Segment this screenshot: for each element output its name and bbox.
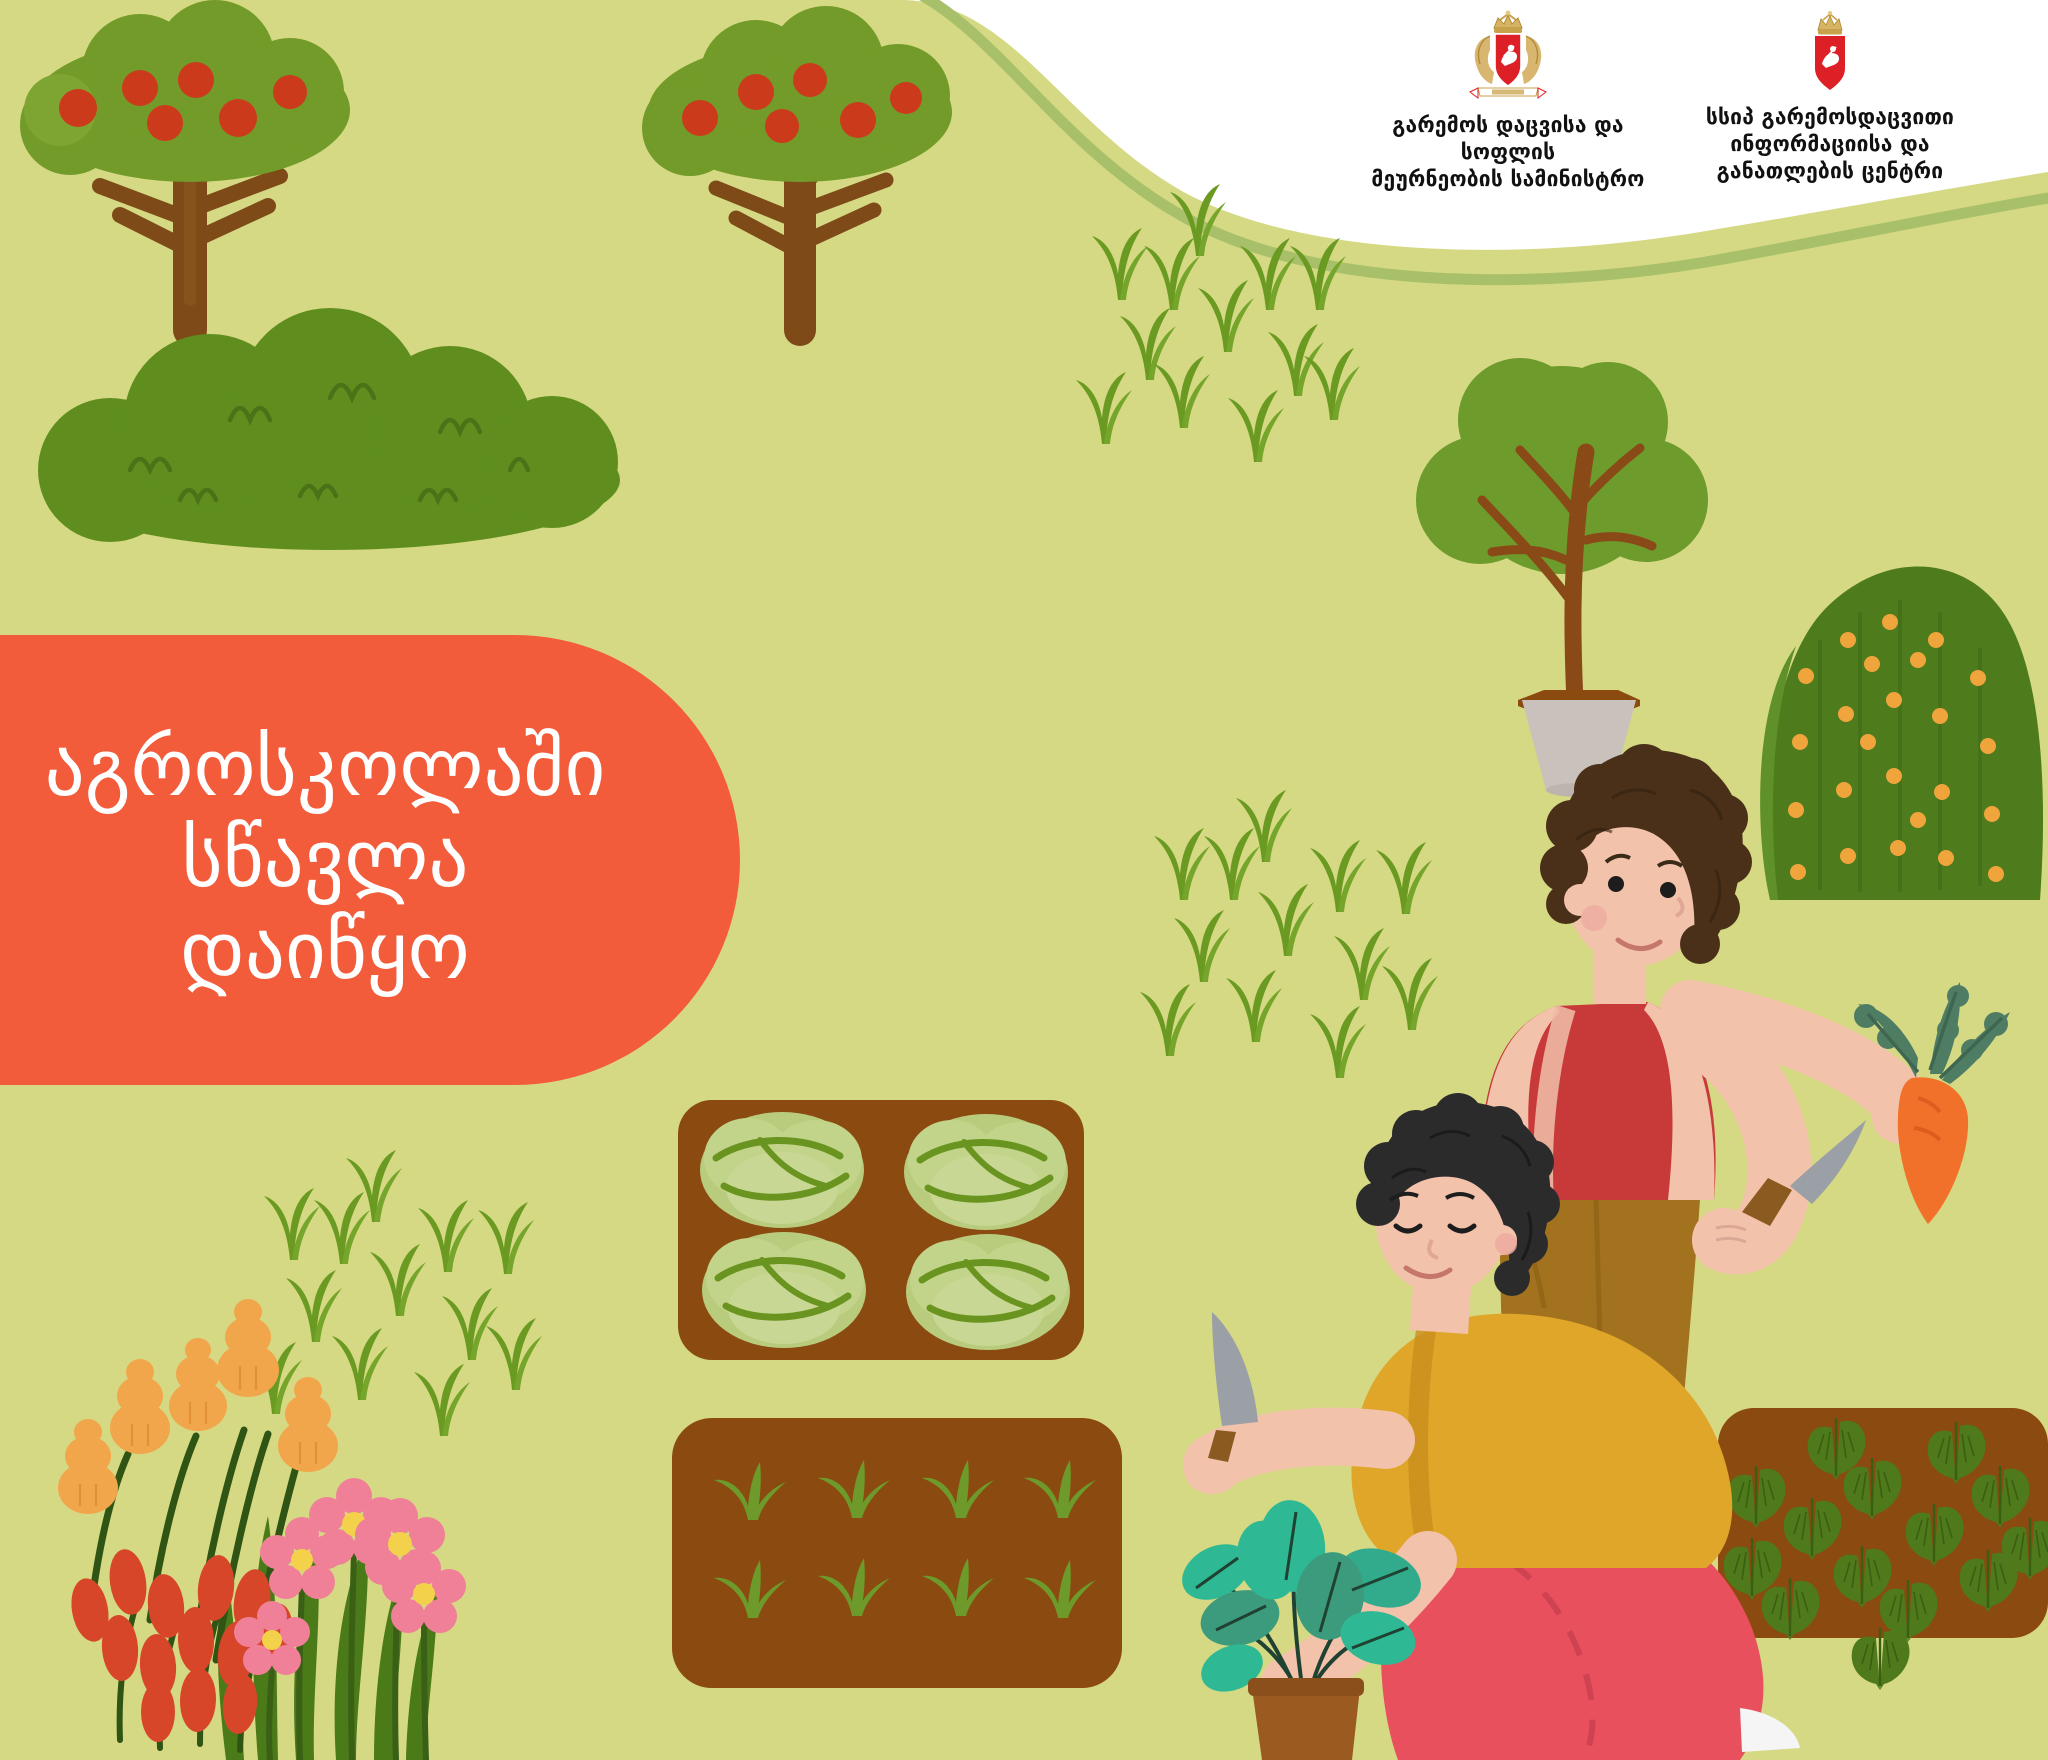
- title-text: აგროსკოლაში სწავლა დაიწყო: [15, 723, 666, 998]
- title-banner: აგროსკოლაში სწავლა დაიწყო: [0, 635, 740, 1085]
- apple: [219, 99, 257, 137]
- apple: [840, 102, 876, 138]
- apple: [147, 105, 183, 141]
- cheek: [1581, 905, 1607, 931]
- pink-flowers: [234, 1478, 466, 1760]
- hedge-bush: [38, 308, 620, 550]
- apple: [59, 89, 97, 127]
- cheek: [1495, 1233, 1517, 1255]
- potted-tree: [1416, 358, 1708, 797]
- grass-patch-top: [1076, 184, 1360, 462]
- poster-canvas: გარემოს დაცვისა და სოფლის მეურნეობის სამ…: [0, 0, 2048, 1760]
- apple: [178, 62, 214, 98]
- apple: [738, 74, 774, 110]
- apple-tree-left: [20, 0, 350, 330]
- title-line-1: აგროსკოლაში: [45, 723, 606, 815]
- apple: [765, 109, 799, 143]
- orange-berry-bush: [1760, 566, 2043, 900]
- title-line-2: სწავლა: [45, 814, 606, 906]
- eye: [1660, 882, 1676, 898]
- apple: [122, 70, 158, 106]
- apple: [793, 63, 827, 97]
- apple: [273, 75, 307, 109]
- apple: [682, 100, 718, 136]
- cabbage-bed: [678, 1100, 1084, 1360]
- orange-blooms: [58, 1299, 338, 1514]
- leafy-bed: [1718, 1408, 2048, 1690]
- apple-tree-right: [642, 6, 952, 330]
- flower-bed: [58, 1299, 466, 1760]
- eye: [1608, 876, 1624, 892]
- grass-patch-left: [246, 1150, 542, 1436]
- title-line-3: დაიწყო: [45, 906, 606, 998]
- apple: [890, 82, 922, 114]
- seedling-bed: [672, 1418, 1122, 1688]
- grass-patch-middle: [1140, 790, 1438, 1078]
